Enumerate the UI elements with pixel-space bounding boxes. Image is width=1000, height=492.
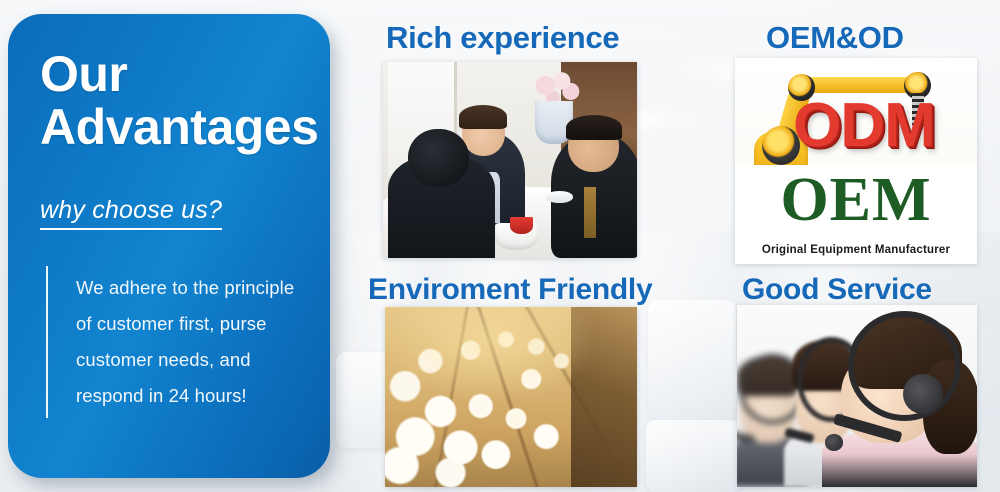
agent-foreground-mic-tip — [825, 434, 843, 450]
page-title: Our Advantages — [40, 48, 308, 154]
oem-caption: Original Equipment Manufacturer — [735, 244, 977, 256]
odm-wordmark: ODM — [793, 95, 977, 157]
background-shape — [646, 420, 742, 492]
section-heading-enviroment-friendly: Enviroment Friendly — [368, 273, 652, 307]
background-shape — [648, 300, 736, 420]
photo-oem-odm-logo: ODM OEM Original Equipment Manufacturer — [735, 58, 977, 264]
photo-business-meeting — [383, 62, 637, 258]
panel-subtitle: why choose us? — [40, 196, 222, 230]
meeting-scene — [383, 62, 637, 258]
section-heading-oem-odm: OEM&OD — [766, 20, 904, 56]
section-heading-good-service: Good Service — [742, 273, 932, 307]
cotton-scene — [385, 307, 637, 487]
advantages-panel: Our Advantages why choose us? We adhere … — [8, 14, 330, 478]
oem-wordmark: OEM — [735, 169, 977, 231]
service-scene — [737, 305, 977, 487]
oem-band: OEM Original Equipment Manufacturer — [735, 165, 977, 264]
photo-customer-service — [737, 305, 977, 487]
panel-quote: We adhere to the principle of customer f… — [46, 266, 308, 418]
person-right-tie — [584, 187, 597, 238]
panel-body-text: We adhere to the principle of customer f… — [76, 270, 308, 414]
agent-foreground — [819, 305, 977, 487]
sunset-glow — [385, 307, 637, 487]
red-cup-shape — [510, 217, 533, 235]
panel-title-line1: Our — [40, 46, 127, 102]
photo-cotton-field — [385, 307, 637, 487]
agent-foreground-headset-band — [848, 311, 961, 421]
panel-title-line2: Advantages — [40, 101, 308, 154]
person-right-hair — [566, 115, 622, 140]
oem-odm-logo: ODM OEM Original Equipment Manufacturer — [735, 58, 977, 264]
person-center-hair — [459, 105, 507, 129]
agent-foreground-earcup — [903, 374, 942, 414]
person-foreground-head — [408, 129, 469, 188]
section-heading-rich-experience: Rich experience — [386, 20, 619, 56]
our-advantages-banner: Our Advantages why choose us? We adhere … — [0, 0, 1000, 492]
